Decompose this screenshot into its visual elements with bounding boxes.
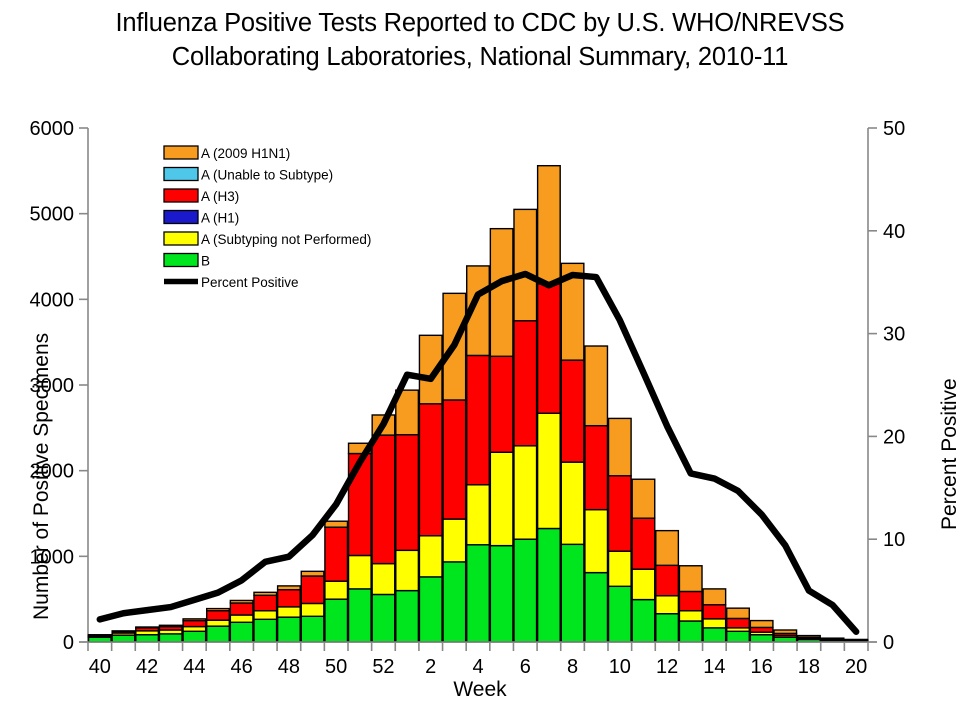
bar-segment (207, 611, 230, 620)
x-axis-tick-label: 40 (89, 656, 111, 678)
right-axis-tick-label: 50 (883, 118, 905, 140)
bar-segment (750, 627, 773, 632)
legend-color-swatch (164, 189, 198, 202)
bar-stack (774, 630, 797, 642)
bar-segment (656, 614, 679, 642)
bar-segment (585, 426, 608, 510)
bar-segment (112, 635, 135, 642)
bar-segment (419, 404, 442, 536)
bar-stack (136, 627, 159, 642)
bar-segment (136, 627, 159, 628)
legend-color-swatch (164, 146, 198, 159)
bar-stack (372, 415, 395, 642)
bar-segment (396, 550, 419, 590)
bar-segment (254, 595, 277, 610)
legend-color-swatch (164, 254, 198, 267)
bar-segment (750, 621, 773, 628)
bar-segment (349, 589, 372, 642)
bar-segment (585, 573, 608, 642)
bar-segment (632, 479, 655, 518)
bar-segment (419, 536, 442, 577)
chart-title-line-1: Influenza Positive Tests Reported to CDC… (0, 6, 960, 40)
bar-stack (561, 263, 584, 642)
bar-stack (727, 608, 750, 642)
legend-item[interactable]: A (2009 H1N1) (164, 146, 290, 161)
bar-segment (301, 576, 324, 603)
bar-segment (609, 418, 632, 475)
bar-segment (561, 544, 584, 642)
left-axis-tick-label: 0 (63, 632, 74, 654)
x-axis-tick-label: 20 (845, 656, 867, 678)
bar-segment (632, 518, 655, 569)
bar-segment (230, 600, 253, 603)
legend-item-label: A (Subtyping not Performed) (201, 232, 371, 247)
bar-segment (679, 591, 702, 610)
bar-segment (112, 631, 135, 632)
right-axis-tick-label: 40 (883, 221, 905, 243)
x-axis-title: Week (0, 678, 960, 702)
legend-item[interactable]: A (Subtyping not Performed) (164, 232, 371, 247)
bar-segment (443, 519, 466, 562)
x-axis: 404244464850522468101214161820 (79, 642, 877, 678)
bar-segment (656, 565, 679, 595)
bar-stack (112, 631, 135, 642)
bar-segment (632, 569, 655, 599)
left-axis-tick-label: 4000 (30, 289, 75, 311)
bar-segment (609, 586, 632, 642)
bar-segment (443, 400, 466, 519)
bar-segment (585, 346, 608, 426)
y-axis-title-left: Number of Positive Specimens (30, 333, 54, 620)
bar-stack (183, 619, 206, 642)
bar-segment (727, 608, 750, 618)
bar-segment (230, 622, 253, 642)
bar-segment (609, 476, 632, 551)
bar-segment (467, 485, 490, 545)
bar-stack (89, 635, 112, 642)
right-axis: 01020304050 (868, 118, 905, 654)
bar-segment (538, 284, 561, 413)
bar-segment (301, 616, 324, 642)
bar-segment (372, 435, 395, 564)
y-axis-title-right: Percent Positive (938, 378, 960, 530)
bar-segment (254, 592, 277, 595)
bar-segment (679, 621, 702, 642)
bar-segment (207, 626, 230, 642)
bar-stack (703, 589, 726, 642)
bar-segment (301, 571, 324, 576)
bar-segment (254, 619, 277, 642)
bar-stack (396, 390, 419, 642)
x-axis-tick-label: 52 (372, 656, 394, 678)
x-axis-tick-label: 6 (520, 656, 531, 678)
bar-stack (278, 586, 301, 642)
bar-segment (538, 166, 561, 284)
bar-stack (656, 531, 679, 642)
legend-color-swatch (164, 232, 198, 245)
x-axis-tick-label: 16 (751, 656, 773, 678)
legend-item-label: Percent Positive (201, 275, 299, 290)
bar-segment (159, 634, 182, 642)
x-axis-tick-label: 4 (472, 656, 483, 678)
bar-segment (750, 635, 773, 642)
bar-segment (490, 452, 513, 545)
bar-segment (278, 586, 301, 590)
bar-segment (183, 631, 206, 642)
bar-segment (561, 360, 584, 462)
legend-item[interactable]: A (H1) (164, 210, 239, 225)
bar-segment (679, 566, 702, 592)
bar-segment (609, 551, 632, 586)
bar-segment (632, 600, 655, 642)
bar-segment (490, 546, 513, 642)
bar-stack (750, 621, 773, 642)
bar-stack (585, 346, 608, 642)
plot-area: 0100020003000400050006000 01020304050 40… (0, 0, 960, 720)
x-axis-tick-label: 12 (656, 656, 678, 678)
bar-segment (278, 590, 301, 607)
bar-segment (396, 435, 419, 551)
bar-segment (230, 615, 253, 622)
bar-segment (230, 603, 253, 615)
bar-stack (632, 479, 655, 642)
x-axis-tick-label: 46 (231, 656, 253, 678)
bar-segment (278, 617, 301, 642)
chart-title: Influenza Positive Tests Reported to CDC… (0, 6, 960, 74)
bar-stack (538, 166, 561, 642)
right-axis-tick-label: 30 (883, 324, 905, 346)
bar-segment (703, 628, 726, 642)
bar-stack (490, 229, 513, 642)
bar-segment (538, 528, 561, 642)
right-axis-tick-label: 10 (883, 529, 905, 551)
chart-legend: A (2009 H1N1)A (Unable to Subtype)A (H3)… (164, 146, 371, 290)
legend-item-label: A (H1) (201, 210, 239, 225)
bar-segment (325, 581, 348, 599)
bar-stack (254, 592, 277, 642)
legend-item[interactable]: Percent Positive (164, 275, 299, 290)
bar-segment (845, 639, 868, 640)
bar-segment (703, 619, 726, 628)
x-axis-tick-label: 18 (798, 656, 820, 678)
bar-segment (514, 321, 537, 446)
x-axis-tick-label: 44 (183, 656, 205, 678)
bar-stack (207, 609, 230, 642)
legend-item-label: A (H3) (201, 189, 239, 204)
bar-segment (325, 599, 348, 642)
bar-segment (585, 510, 608, 573)
bar-segment (703, 589, 726, 605)
legend-color-swatch (164, 168, 198, 181)
bar-segment (490, 229, 513, 357)
bar-segment (207, 609, 230, 611)
bar-segment (798, 636, 821, 638)
right-axis-tick-label: 0 (883, 632, 894, 654)
left-axis-tick-label: 6000 (30, 118, 75, 140)
x-axis-tick-label: 50 (325, 656, 347, 678)
legend-item[interactable]: B (164, 253, 210, 268)
bar-stack (325, 521, 348, 642)
left-axis-tick-label: 5000 (30, 204, 75, 226)
bar-segment (349, 555, 372, 588)
bar-segment (821, 638, 844, 639)
legend-item-label: B (201, 253, 210, 268)
bar-segment (183, 627, 206, 632)
bar-segment (207, 620, 230, 626)
bar-stack (301, 571, 324, 642)
x-axis-tick-label: 48 (278, 656, 300, 678)
bar-stack (798, 636, 821, 642)
bar-stack (159, 625, 182, 642)
chart-title-line-2: Collaborating Laboratories, National Sum… (0, 40, 960, 74)
bar-segment (372, 564, 395, 595)
bar-segment (183, 621, 206, 627)
x-axis-tick-label: 8 (567, 656, 578, 678)
bar-stack (467, 266, 490, 642)
bar-segment (514, 446, 537, 539)
bar-segment (325, 527, 348, 581)
bar-segment (538, 413, 561, 528)
bar-stack (230, 600, 253, 642)
right-axis-tick-label: 20 (883, 426, 905, 448)
bar-segment (656, 531, 679, 566)
bar-segment (278, 607, 301, 617)
influenza-chart: Influenza Positive Tests Reported to CDC… (0, 0, 960, 720)
bar-segment (136, 635, 159, 642)
bar-segment (254, 611, 277, 620)
bar-segment (514, 209, 537, 320)
bar-segment (679, 611, 702, 621)
bar-segment (183, 619, 206, 621)
bar-segment (514, 539, 537, 642)
bar-segment (561, 462, 584, 544)
bar-stack (609, 418, 632, 642)
bar-segment (89, 635, 112, 636)
bar-segment (703, 605, 726, 619)
bar-segment (419, 577, 442, 642)
legend-item-label: A (Unable to Subtype) (201, 167, 333, 182)
bar-segment (159, 625, 182, 626)
bar-segment (372, 594, 395, 642)
bar-segment (396, 591, 419, 642)
legend-item[interactable]: A (Unable to Subtype) (164, 167, 333, 182)
legend-item[interactable]: A (H3) (164, 189, 239, 204)
bar-segment (467, 355, 490, 484)
x-axis-tick-label: 2 (425, 656, 436, 678)
x-axis-tick-label: 14 (703, 656, 725, 678)
bar-segment (490, 356, 513, 452)
bar-segment (349, 454, 372, 556)
legend-item-label: A (2009 H1N1) (201, 146, 290, 161)
bar-segment (727, 618, 750, 627)
bar-segment (656, 596, 679, 614)
bar-segment (301, 603, 324, 616)
x-axis-tick-label: 42 (136, 656, 158, 678)
bar-segment (467, 545, 490, 642)
bar-segment (443, 562, 466, 642)
bar-segment (325, 521, 348, 527)
x-axis-tick-label: 10 (609, 656, 631, 678)
bar-stack (679, 566, 702, 642)
bar-segment (774, 630, 797, 633)
legend-color-swatch (164, 211, 198, 224)
bar-segment (727, 631, 750, 642)
